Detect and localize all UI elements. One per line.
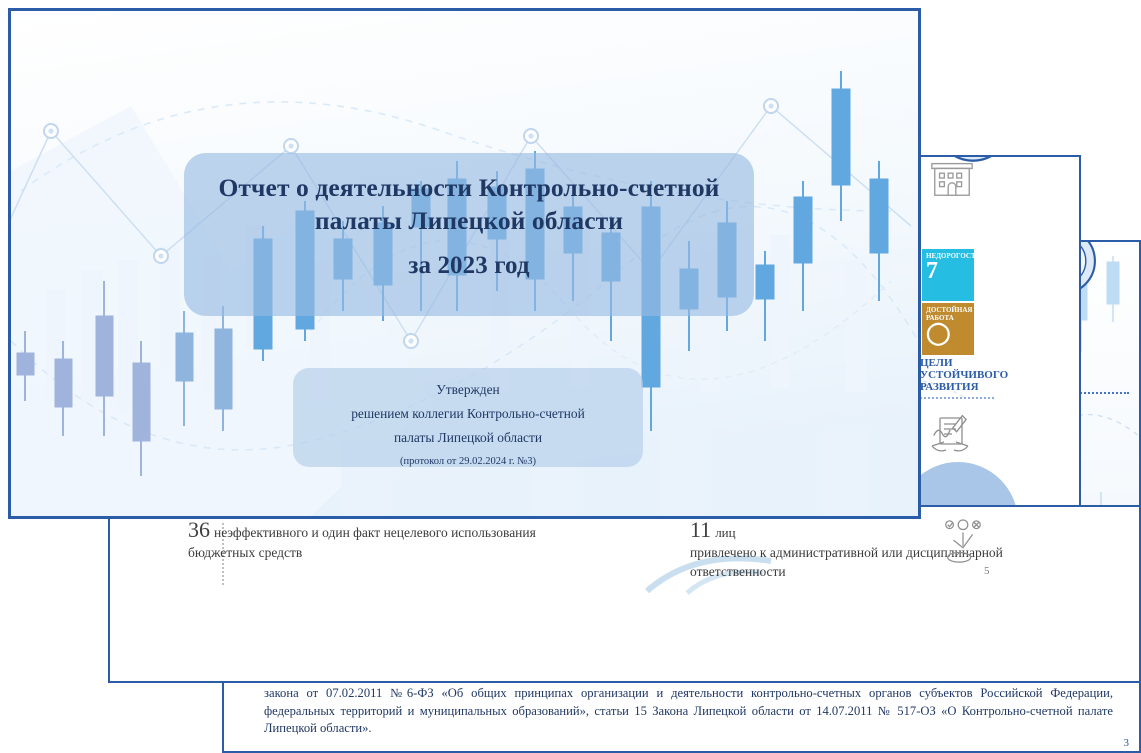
- approval-text: Утвержден решением коллегии Контрольно-с…: [293, 378, 643, 474]
- dotted-divider: [920, 397, 994, 399]
- page-title: Отчет о деятельности Контрольно-счетной …: [184, 171, 754, 282]
- stat-left-description: неэффективного и один факт нецелевого ис…: [188, 525, 536, 560]
- page-number: 5: [984, 565, 990, 577]
- title-line-2: палаты Липецкой области: [184, 204, 754, 237]
- sdg-heading-line1: ЦЕЛИ: [920, 357, 1008, 369]
- approval-line-1: Утвержден: [293, 378, 643, 402]
- sdg-card-7: НЕДОРОГОСТОЯЩАЯ 7: [922, 249, 974, 301]
- title-line-1: Отчет о деятельности Контрольно-счетной: [184, 171, 754, 204]
- approval-line-3: палаты Липецкой области: [293, 426, 643, 450]
- person-approved-icon: [940, 517, 986, 572]
- slide-title[interactable]: Отчет о деятельности Контрольно-счетной …: [8, 8, 921, 519]
- approval-protocol: (протокол от 29.02.2024 г. №3): [293, 450, 643, 474]
- approval-line-2: решением коллегии Контрольно-счетной: [293, 402, 643, 426]
- stat-right-number: 11: [690, 517, 711, 542]
- stat-right-unit: лиц: [715, 525, 735, 540]
- page-number: 3: [1124, 737, 1130, 749]
- slide-stack: Отчет подготовлен в соответствии с Регла…: [0, 0, 1141, 753]
- slide-statistics[interactable]: 36 неэффективного и один факт нецелевого…: [108, 505, 1141, 683]
- sdg-heading-line3: РАЗВИТИЯ: [920, 381, 1008, 393]
- stat-left: 36 неэффективного и один факт нецелевого…: [188, 517, 538, 562]
- sdg-card-8: ДОСТОЙНАЯ РАБОТА ◯: [922, 303, 974, 355]
- stat-left-number: 36: [188, 517, 210, 542]
- sdg-heading: ЦЕЛИ УСТОЙЧИВОГО РАЗВИТИЯ: [920, 357, 1008, 393]
- emblem-ksp-lipetsk: [934, 155, 1012, 168]
- title-year: за 2023 год: [184, 249, 754, 282]
- signature-icon: [926, 407, 972, 452]
- sdg-heading-line2: УСТОЙЧИВОГО: [920, 369, 1008, 381]
- sdg-card-7-number: 7: [926, 260, 974, 282]
